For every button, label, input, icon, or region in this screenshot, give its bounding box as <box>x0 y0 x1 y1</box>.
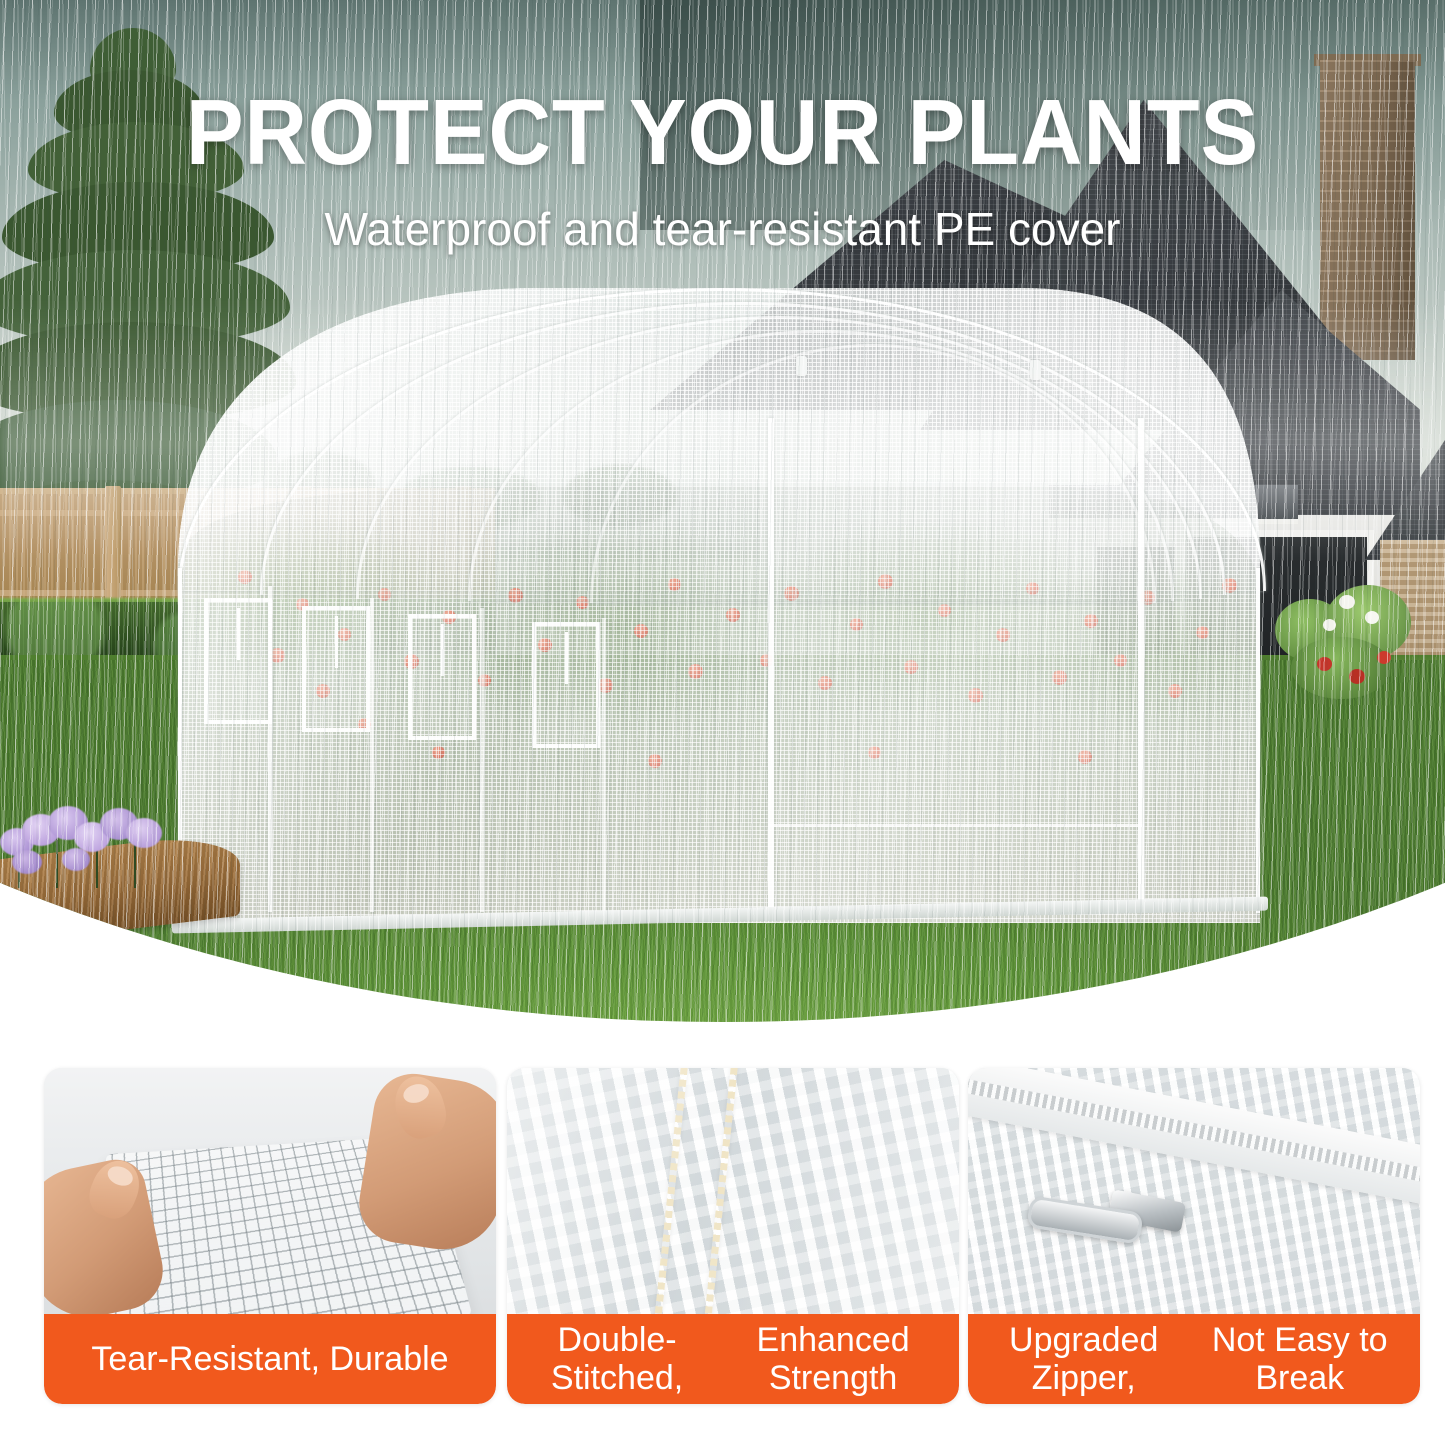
bush-foliage <box>1291 637 1391 699</box>
greenhouse-side-window[interactable] <box>532 622 600 748</box>
feature-caption-upgraded-zipper: Upgraded Zipper, Not Easy to Break <box>968 1314 1420 1404</box>
greenhouse-corner-post <box>1256 568 1260 913</box>
feature-image-tear-resistant <box>44 1068 496 1320</box>
red-rose <box>1377 651 1391 664</box>
caption-line-1: Upgraded Zipper, <box>978 1321 1189 1397</box>
rose-bush <box>1265 585 1430 705</box>
thumbnail <box>401 1081 431 1105</box>
white-rose <box>1339 595 1355 609</box>
feature-caption-double-stitched: Double-Stitched, Enhanced Strength <box>507 1314 959 1404</box>
red-rose <box>1317 657 1332 671</box>
feature-card-tear-resistant[interactable]: Tear-Resistant, Durable <box>44 1068 496 1404</box>
feature-card-upgraded-zipper[interactable]: Upgraded Zipper, Not Easy to Break <box>968 1068 1420 1404</box>
white-rose <box>1365 611 1379 624</box>
greenhouse-side-window[interactable] <box>302 606 370 732</box>
greenhouse-door-post <box>768 418 774 913</box>
purple-flower-cluster <box>0 800 230 880</box>
hero-title: PROTECT YOUR PLANTS <box>51 86 1395 179</box>
hero-section: PROTECT YOUR PLANTS Waterproof and tear-… <box>0 0 1445 1022</box>
window-zipper[interactable] <box>335 616 338 668</box>
greenhouse-rib-post <box>480 608 484 912</box>
tunnel-greenhouse <box>120 268 1260 923</box>
feature-panel-row: Tear-Resistant, Durable Double-Stitched,… <box>0 1068 1445 1418</box>
greenhouse-clip <box>796 356 807 376</box>
window-zipper[interactable] <box>565 632 568 684</box>
greenhouse-side-window[interactable] <box>408 614 476 740</box>
caption-line-2: Not Easy to Break <box>1189 1321 1410 1397</box>
greenhouse-side-window[interactable] <box>204 598 272 724</box>
feature-caption-tear-resistant: Tear-Resistant, Durable <box>44 1314 496 1404</box>
red-rose <box>1349 669 1365 684</box>
hero-subtitle: Waterproof and tear-resistant PE cover <box>0 202 1445 256</box>
greenhouse-rib-post <box>370 598 374 912</box>
greenhouse-rib-post <box>602 618 606 912</box>
greenhouse-door-rail <box>768 824 1144 827</box>
feature-image-upgraded-zipper <box>968 1068 1420 1320</box>
caption-line-1: Double-Stitched, <box>517 1321 717 1397</box>
feature-image-double-stitched <box>507 1068 959 1320</box>
thumbnail <box>105 1163 136 1189</box>
product-marketing-image: PROTECT YOUR PLANTS Waterproof and tear-… <box>0 0 1445 1445</box>
window-zipper[interactable] <box>441 624 444 676</box>
white-rose <box>1323 619 1336 631</box>
greenhouse-door-post <box>1138 418 1144 913</box>
greenhouse-clip <box>1030 360 1041 380</box>
feature-card-double-stitched[interactable]: Double-Stitched, Enhanced Strength <box>507 1068 959 1404</box>
caption-line-2: Enhanced Strength <box>717 1321 949 1397</box>
window-zipper[interactable] <box>237 608 240 660</box>
